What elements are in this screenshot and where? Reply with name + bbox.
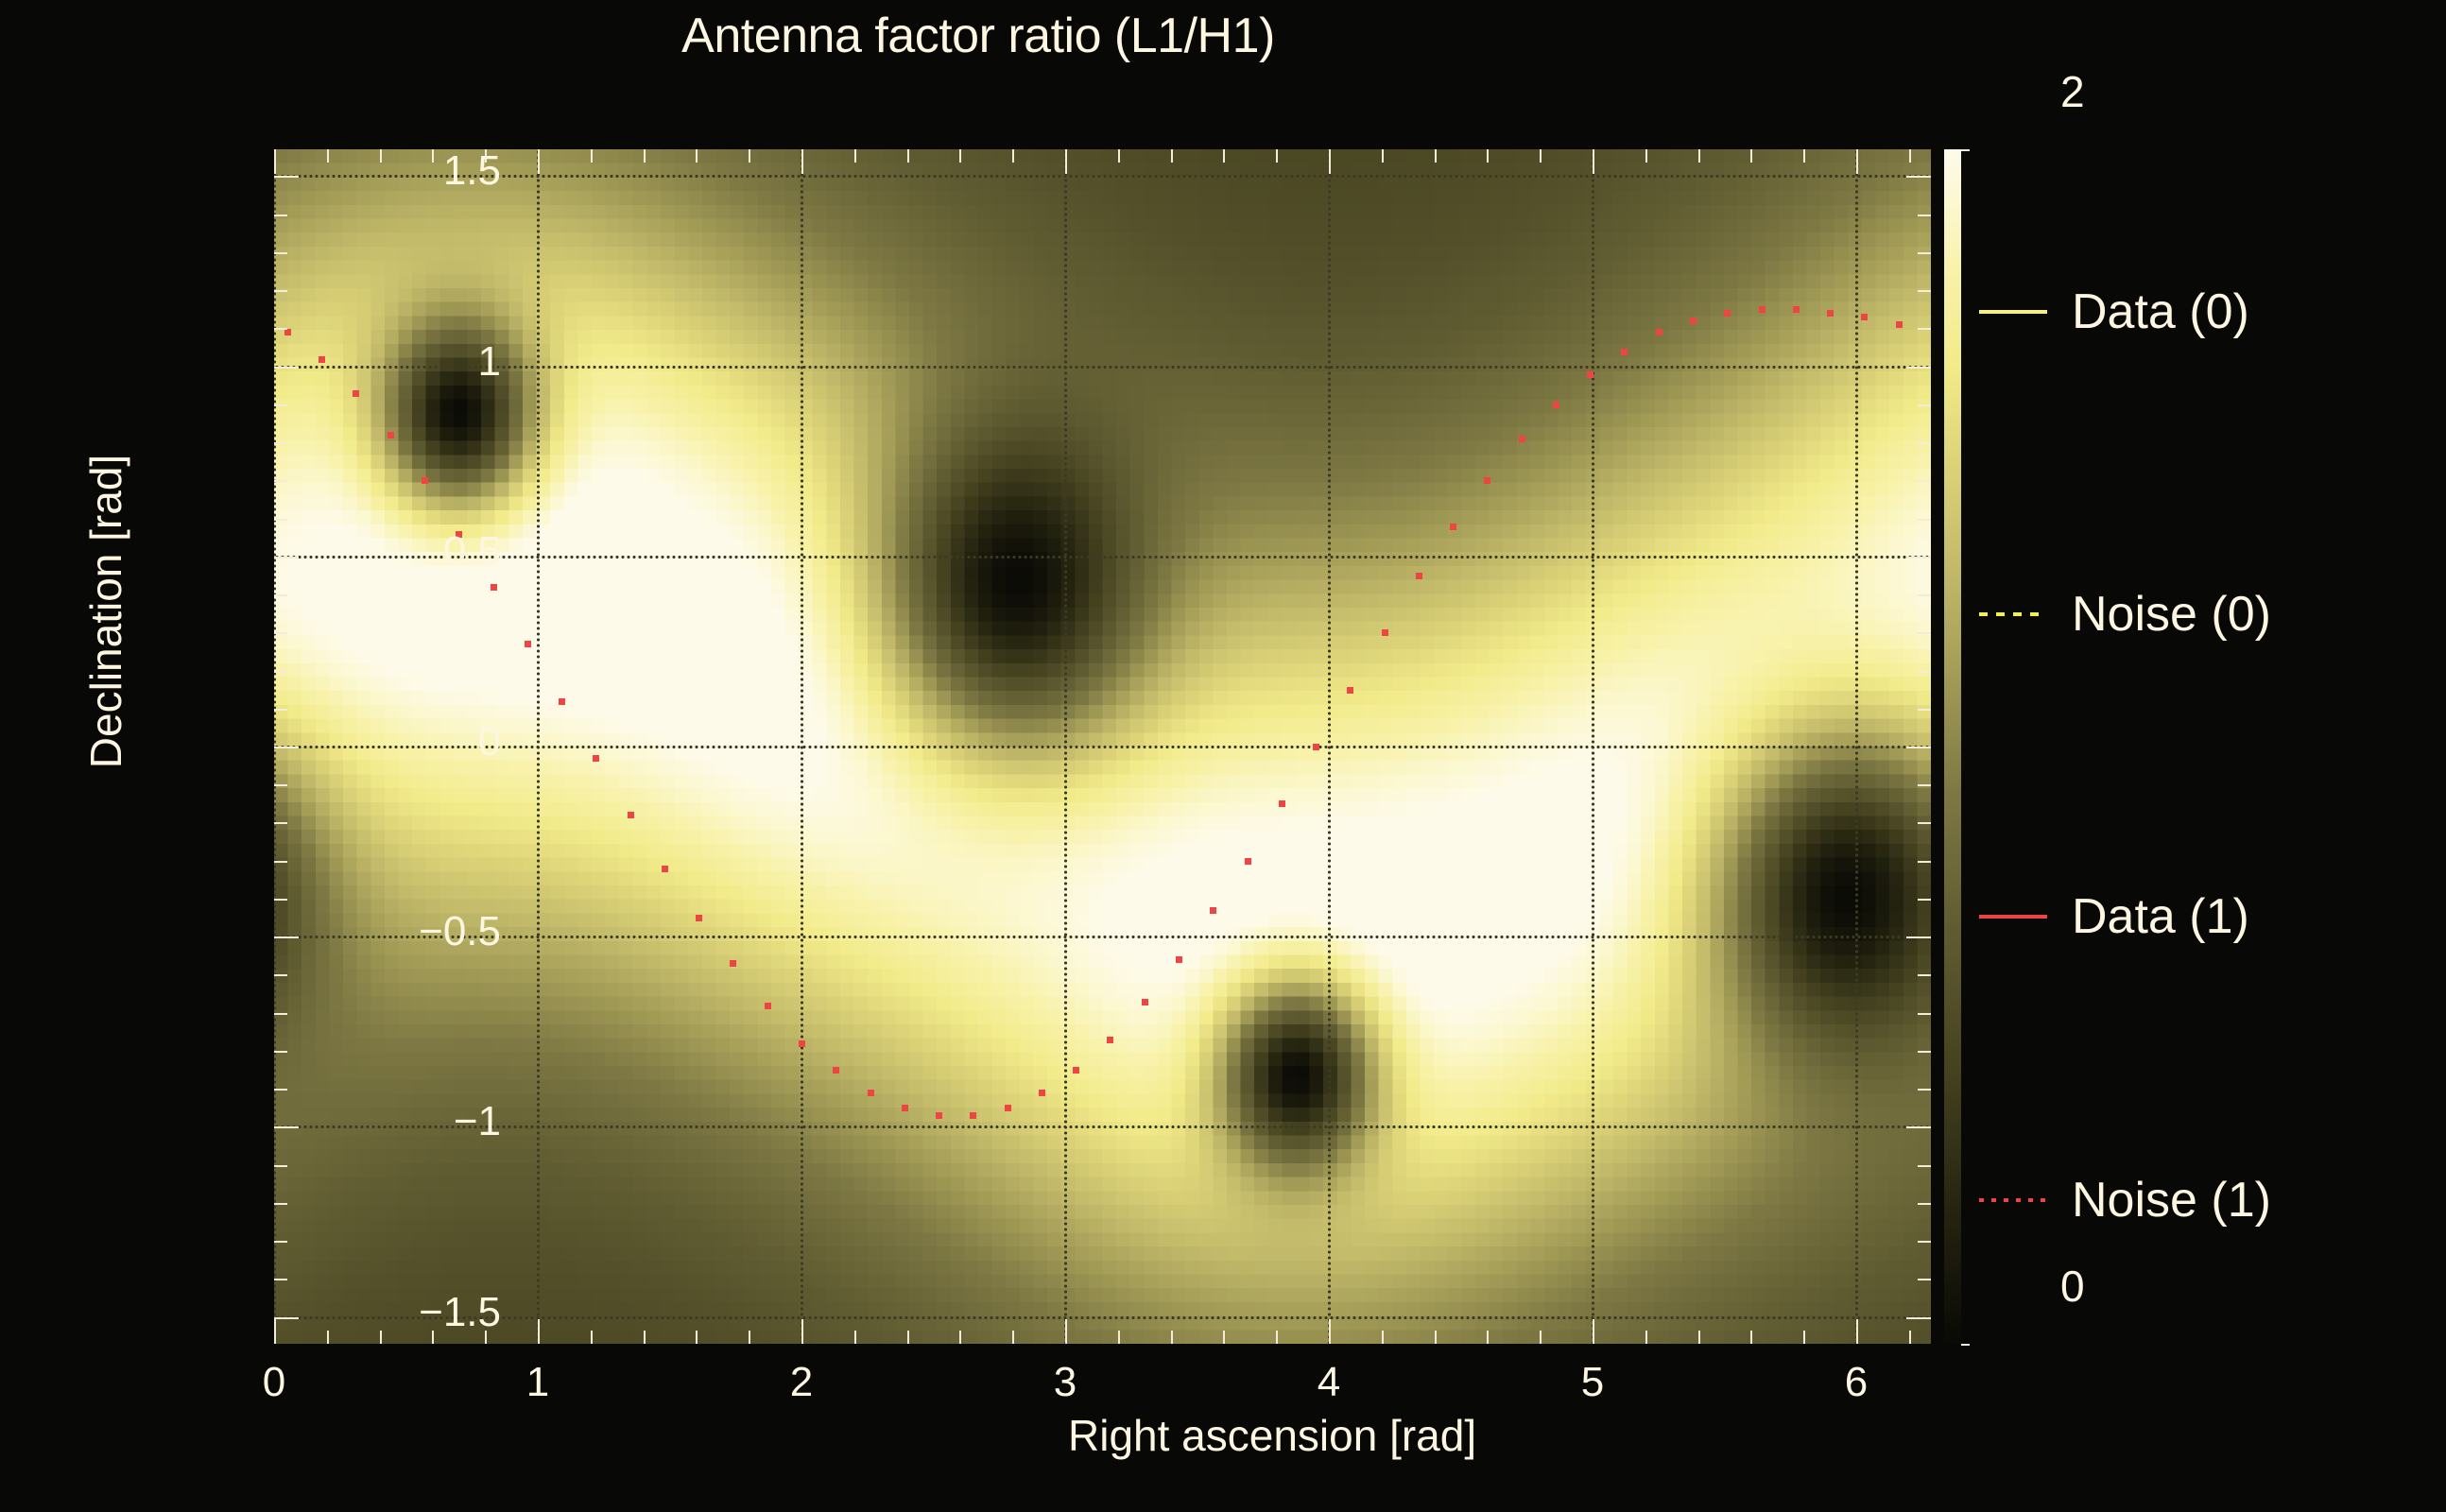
tick-mark	[1918, 328, 1931, 330]
legend-entry[interactable]: Noise (1)	[1979, 1172, 2271, 1228]
tick-mark	[1918, 1241, 1931, 1243]
x-tick-label: 1	[481, 1359, 594, 1406]
colorbar-tick-label: 2	[2060, 66, 2085, 117]
tick-mark	[274, 784, 287, 786]
chart-canvas: Antenna factor ratio (L1/H1) Declination…	[0, 0, 2446, 1512]
tick-mark	[1918, 1203, 1931, 1205]
tick-mark	[274, 1317, 299, 1319]
tick-mark	[1487, 149, 1489, 163]
y-tick-label: 1	[478, 338, 501, 386]
tick-mark	[1918, 1051, 1931, 1053]
tick-mark	[274, 632, 287, 634]
tick-mark	[1276, 149, 1278, 163]
tick-mark	[854, 149, 856, 163]
tick-mark	[1906, 557, 1931, 558]
tick-mark	[1909, 149, 1911, 163]
tick-mark	[274, 861, 287, 863]
tick-mark	[1918, 519, 1931, 521]
y-tick-label: −1.5	[419, 1289, 501, 1336]
tick-mark	[1435, 1331, 1437, 1344]
tick-mark	[274, 1051, 287, 1053]
tick-mark	[1918, 784, 1931, 786]
tick-mark	[1918, 594, 1931, 596]
tick-mark	[1918, 252, 1931, 254]
tick-mark	[274, 367, 299, 369]
colorbar-tick-mark	[1961, 149, 1970, 151]
tick-mark	[1906, 1126, 1931, 1128]
tick-mark	[327, 149, 329, 163]
tick-mark	[1645, 1331, 1647, 1344]
tick-mark	[1918, 215, 1931, 216]
legend-line-swatch	[1979, 612, 2047, 616]
tick-mark	[1906, 936, 1931, 938]
tick-mark	[1276, 1331, 1278, 1344]
tick-mark	[1918, 671, 1931, 673]
tick-mark	[1918, 404, 1931, 406]
colorbar-tick-mark	[1961, 1344, 1970, 1346]
tick-mark	[274, 747, 299, 748]
tick-mark	[1382, 149, 1384, 163]
y-tick-label: −1	[454, 1098, 501, 1145]
tick-mark	[644, 1331, 646, 1344]
legend-entry[interactable]: Data (0)	[1979, 283, 2249, 340]
tick-mark	[1329, 149, 1331, 174]
tick-mark	[1645, 149, 1647, 163]
tick-mark	[1382, 1331, 1384, 1344]
tick-mark	[801, 1319, 803, 1344]
tick-mark	[274, 709, 287, 711]
tick-mark	[1918, 480, 1931, 482]
tick-mark	[1435, 149, 1437, 163]
tick-mark	[274, 1165, 287, 1167]
tick-mark	[1803, 149, 1805, 163]
tick-mark	[1803, 1331, 1805, 1344]
tick-mark	[959, 1331, 961, 1344]
legend-line-swatch	[1979, 310, 2047, 314]
tick-mark	[1918, 1089, 1931, 1091]
tick-mark	[274, 290, 287, 292]
y-tick-label: 1.5	[443, 147, 501, 195]
tick-mark	[274, 1319, 276, 1344]
tick-mark	[274, 1279, 287, 1280]
tick-mark	[1918, 632, 1931, 634]
tick-mark	[1856, 1319, 1858, 1344]
tick-mark	[1750, 1331, 1752, 1344]
tick-mark	[538, 1319, 540, 1344]
x-tick-label: 0	[217, 1359, 331, 1406]
tick-mark	[854, 1331, 856, 1344]
legend-line-swatch	[1979, 1198, 2047, 1202]
tick-mark	[1012, 1331, 1014, 1344]
tick-mark	[1593, 1319, 1594, 1344]
heatmap-plot-area[interactable]	[274, 149, 1931, 1344]
legend-entry[interactable]: Noise (0)	[1979, 586, 2271, 643]
tick-mark	[644, 149, 646, 163]
tick-mark	[274, 1013, 287, 1015]
tick-mark	[274, 442, 287, 444]
colorbar-tick-label: 0	[2060, 1261, 2085, 1312]
tick-mark	[591, 149, 593, 163]
tick-mark	[274, 899, 287, 901]
tick-mark	[1223, 149, 1225, 163]
tick-mark	[1918, 974, 1931, 976]
tick-mark	[749, 149, 750, 163]
tick-mark	[1918, 1279, 1931, 1280]
x-tick-label: 2	[745, 1359, 858, 1406]
tick-mark	[1906, 1317, 1931, 1319]
tick-mark	[1118, 149, 1120, 163]
tick-mark	[274, 822, 287, 824]
tick-mark	[907, 1331, 909, 1344]
tick-mark	[1065, 149, 1067, 174]
legend-line-swatch	[1979, 915, 2047, 919]
tick-mark	[274, 328, 287, 330]
tick-mark	[749, 1331, 750, 1344]
tick-mark	[274, 149, 276, 174]
tick-mark	[1918, 1013, 1931, 1015]
x-tick-label: 3	[1008, 1359, 1122, 1406]
tick-mark	[1540, 1331, 1542, 1344]
tick-mark	[1065, 1319, 1067, 1344]
tick-mark	[1906, 747, 1931, 748]
tick-mark	[1918, 899, 1931, 901]
tick-mark	[696, 1331, 698, 1344]
tick-mark	[274, 594, 287, 596]
tick-mark	[274, 557, 299, 558]
legend-entry-label: Data (0)	[2072, 287, 2249, 336]
chart-title: Antenna factor ratio (L1/H1)	[0, 8, 1956, 64]
x-tick-label: 5	[1536, 1359, 1649, 1406]
y-tick-label: 0	[478, 718, 501, 765]
colorbar[interactable]	[1944, 149, 1961, 1344]
tick-mark	[1540, 149, 1542, 163]
tick-mark	[1171, 1331, 1173, 1344]
tick-mark	[1918, 709, 1931, 711]
tick-mark	[274, 1203, 287, 1205]
tick-mark	[274, 974, 287, 976]
legend-entry-label: Noise (1)	[2072, 1176, 2271, 1225]
legend: Data (0)Noise (0)Data (1)Noise (1)	[1979, 142, 2433, 1361]
tick-mark	[1909, 1331, 1911, 1344]
tick-mark	[1698, 149, 1700, 163]
tick-mark	[432, 149, 434, 163]
tick-mark	[380, 149, 382, 163]
tick-mark	[1906, 367, 1931, 369]
tick-mark	[1918, 442, 1931, 444]
tick-mark	[1329, 1319, 1331, 1344]
legend-entry-label: Data (1)	[2072, 892, 2249, 941]
tick-mark	[380, 1331, 382, 1344]
tick-mark	[1171, 149, 1173, 163]
x-axis-title: Right ascension [rad]	[1068, 1410, 1476, 1461]
tick-mark	[274, 936, 299, 938]
tick-mark	[274, 404, 287, 406]
tick-mark	[274, 176, 299, 178]
tick-mark	[327, 1331, 329, 1344]
tick-mark	[274, 1126, 299, 1128]
tick-mark	[274, 1241, 287, 1243]
x-tick-label: 4	[1272, 1359, 1386, 1406]
tick-mark	[1918, 290, 1931, 292]
tick-mark	[1593, 149, 1594, 174]
tick-mark	[274, 1089, 287, 1091]
tick-mark	[1856, 149, 1858, 174]
tick-mark	[538, 149, 540, 174]
legend-entry[interactable]: Data (1)	[1979, 888, 2249, 945]
axis-tick-marks	[274, 149, 1931, 1344]
y-tick-label: 0.5	[443, 528, 501, 576]
tick-mark	[274, 671, 287, 673]
tick-mark	[1918, 1165, 1931, 1167]
tick-mark	[274, 519, 287, 521]
legend-entry-label: Noise (0)	[2072, 590, 2271, 639]
x-tick-label: 6	[1800, 1359, 1913, 1406]
tick-mark	[1012, 149, 1014, 163]
y-axis-title: Declination [rad]	[80, 328, 131, 895]
tick-mark	[274, 215, 287, 216]
tick-mark	[274, 252, 287, 254]
tick-mark	[1750, 149, 1752, 163]
y-tick-label: −0.5	[419, 908, 501, 955]
tick-mark	[1918, 861, 1931, 863]
tick-mark	[1906, 176, 1931, 178]
tick-mark	[1698, 1331, 1700, 1344]
tick-mark	[907, 149, 909, 163]
tick-mark	[591, 1331, 593, 1344]
tick-mark	[1223, 1331, 1225, 1344]
tick-mark	[1918, 822, 1931, 824]
tick-mark	[696, 149, 698, 163]
tick-mark	[801, 149, 803, 174]
tick-mark	[959, 149, 961, 163]
tick-mark	[274, 480, 287, 482]
tick-mark	[1487, 1331, 1489, 1344]
tick-mark	[1118, 1331, 1120, 1344]
